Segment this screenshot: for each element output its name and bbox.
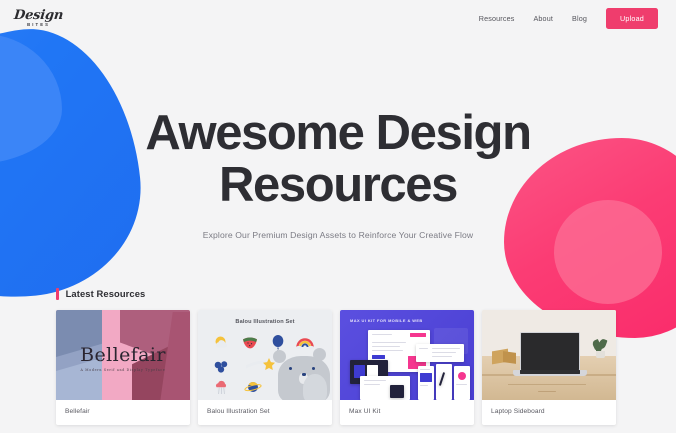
resource-card[interactable]: Balou Illustration Set <box>198 310 332 425</box>
balou-thumb-title: Balou Illustration Set <box>198 319 332 325</box>
mockup-panel-right <box>416 344 464 362</box>
card-thumbnail-maxuikit: MAX UI KIT FOR MOBILE & WEB <box>340 310 474 400</box>
bear-eye-right <box>312 367 315 370</box>
nav-link-resources[interactable]: Resources <box>479 14 515 23</box>
rainbow-icon <box>296 336 314 349</box>
brand-logo-wordmark: Design <box>13 9 64 22</box>
resource-card-grid: Bellefair A Modern Serif and Display Typ… <box>0 310 676 425</box>
berries-icon <box>214 360 229 373</box>
laptop-keyboard <box>520 370 580 374</box>
cupcake-icon <box>214 380 229 395</box>
bear-eye-left <box>289 367 292 370</box>
card-label: Bellefair <box>56 400 190 425</box>
section-title: Latest Resources <box>66 288 146 299</box>
nav-link-about[interactable]: About <box>533 14 553 23</box>
maxuikit-thumb-title: MAX UI KIT FOR MOBILE & WEB <box>350 318 423 323</box>
section-accent-bar <box>56 288 59 300</box>
hero-title-line2: Resources <box>219 158 457 212</box>
resource-card[interactable]: Bellefair A Modern Serif and Display Typ… <box>56 310 190 425</box>
brand-logo-subtext: BITES <box>27 23 50 27</box>
bellefair-thumb-title: Bellefair <box>56 344 190 366</box>
bellefair-thumb-subtitle: A Modern Serif and Display Typeface <box>56 368 190 372</box>
mockup-mobile-2 <box>436 364 452 400</box>
shooting-star-icon <box>246 358 276 372</box>
balloon-icon <box>272 335 284 351</box>
photo-box-b <box>503 351 516 364</box>
resource-card[interactable]: Laptop Sideboard <box>482 310 616 425</box>
hero-section: Awesome Design Resources Explore Our Pre… <box>0 36 676 240</box>
main-navigation: Resources About Blog Upload <box>479 8 658 29</box>
laptop-screen <box>520 332 580 371</box>
brand-logo[interactable]: Design BITES <box>14 9 63 28</box>
site-header: Design BITES Resources About Blog Upload <box>0 0 676 36</box>
bear-nose <box>302 373 306 376</box>
hero-subtitle: Explore Our Premium Design Assets to Rei… <box>0 230 676 240</box>
card-label: Max UI Kit <box>340 400 474 425</box>
latest-resources-heading: Latest Resources <box>0 288 676 300</box>
planet-icon <box>244 380 262 394</box>
hero-title-line1: Awesome Design <box>145 106 530 160</box>
sun-cloud-icon <box>214 336 230 350</box>
bear-paw <box>303 374 327 400</box>
mockup-mobile-3 <box>454 366 470 400</box>
card-label: Balou Illustration Set <box>198 400 332 425</box>
mockup-mobile-1 <box>418 366 434 400</box>
card-thumbnail-bellefair: Bellefair A Modern Serif and Display Typ… <box>56 310 190 400</box>
upload-button[interactable]: Upload <box>606 8 658 29</box>
bear-ear-left <box>273 350 286 363</box>
bear-ear-right <box>313 348 326 361</box>
card-thumbnail-balou: Balou Illustration Set <box>198 310 332 400</box>
mockup-panel-bottom <box>360 376 410 400</box>
page-title: Awesome Design Resources <box>0 108 676 212</box>
photo-plant <box>592 340 608 358</box>
nav-link-blog[interactable]: Blog <box>572 14 587 23</box>
resource-card[interactable]: MAX UI KIT FOR MOBILE & WEB <box>340 310 474 425</box>
watermelon-icon <box>242 337 258 349</box>
photo-drawer <box>508 384 586 400</box>
card-label: Laptop Sideboard <box>482 400 616 425</box>
card-thumbnail-laptop <box>482 310 616 400</box>
